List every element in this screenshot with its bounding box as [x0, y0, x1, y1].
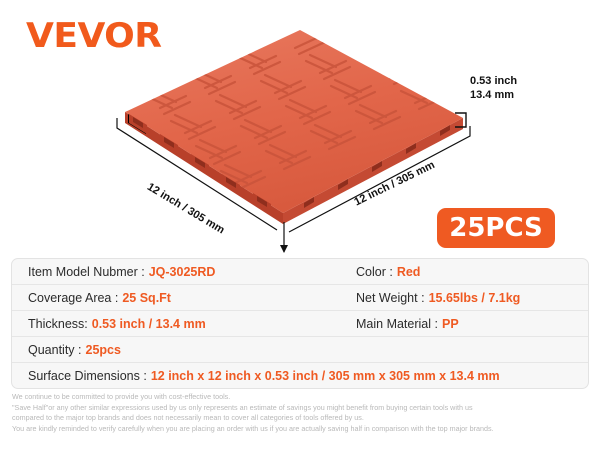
spec-row: Thickness: 0.53 inch / 13.4 mm Main Mate…	[12, 311, 588, 337]
spec-value: Red	[397, 265, 421, 279]
disclaimer-line-3: compared to the major top brands and doe…	[12, 413, 592, 424]
spec-value: 25pcs	[86, 343, 121, 357]
spec-surface-dimensions: Surface Dimensions : 12 inch x 12 inch x…	[12, 369, 588, 383]
spec-label: Color :	[356, 265, 393, 279]
spec-value: 25 Sq.Ft	[122, 291, 171, 305]
disclaimer-line-1: We continue to be committed to provide y…	[12, 392, 592, 403]
spec-row: Item Model Nubmer : JQ-3025RD Color : Re…	[12, 259, 588, 285]
spec-thickness: Thickness: 0.53 inch / 13.4 mm	[12, 317, 342, 331]
spec-label: Main Material :	[356, 317, 438, 331]
spec-coverage-area: Coverage Area : 25 Sq.Ft	[12, 291, 342, 305]
spec-net-weight: Net Weight : 15.65lbs / 7.1kg	[342, 291, 588, 305]
product-spec-card: VEVOR	[0, 0, 600, 450]
spec-row: Quantity : 25pcs	[12, 337, 588, 363]
spec-label: Thickness:	[28, 317, 88, 331]
spec-item-model-number: Item Model Nubmer : JQ-3025RD	[12, 265, 342, 279]
spec-value: PP	[442, 317, 459, 331]
spec-label: Item Model Nubmer :	[28, 265, 145, 279]
thickness-callout: 0.53 inch 13.4 mm	[470, 74, 517, 102]
spec-main-material: Main Material : PP	[342, 317, 588, 331]
spec-value: JQ-3025RD	[149, 265, 216, 279]
spec-row: Surface Dimensions : 12 inch x 12 inch x…	[12, 363, 588, 389]
spec-value: 0.53 inch / 13.4 mm	[92, 317, 206, 331]
spec-value: 12 inch x 12 inch x 0.53 inch / 305 mm x…	[151, 369, 500, 383]
bottom-pointer-line	[280, 222, 288, 253]
tile-top-surface	[125, 30, 463, 213]
thickness-callout-mm: 13.4 mm	[470, 88, 517, 102]
spec-row: Coverage Area : 25 Sq.Ft Net Weight : 15…	[12, 285, 588, 311]
disclaimer-line-2: "Save Half"or any other similar expressi…	[12, 403, 592, 414]
spec-label: Coverage Area :	[28, 291, 118, 305]
thickness-callout-inch: 0.53 inch	[470, 74, 517, 88]
spec-label: Net Weight :	[356, 291, 425, 305]
quantity-badge: 25PCS	[437, 208, 555, 248]
specification-panel: Item Model Nubmer : JQ-3025RD Color : Re…	[11, 258, 589, 389]
spec-value: 15.65lbs / 7.1kg	[429, 291, 521, 305]
spec-label: Quantity :	[28, 343, 82, 357]
disclaimer-line-4: You are kindly reminded to verify carefu…	[12, 424, 592, 435]
disclaimer-text: We continue to be committed to provide y…	[12, 392, 592, 434]
spec-label: Surface Dimensions :	[28, 369, 147, 383]
spec-color: Color : Red	[342, 265, 588, 279]
spec-quantity: Quantity : 25pcs	[12, 343, 342, 357]
